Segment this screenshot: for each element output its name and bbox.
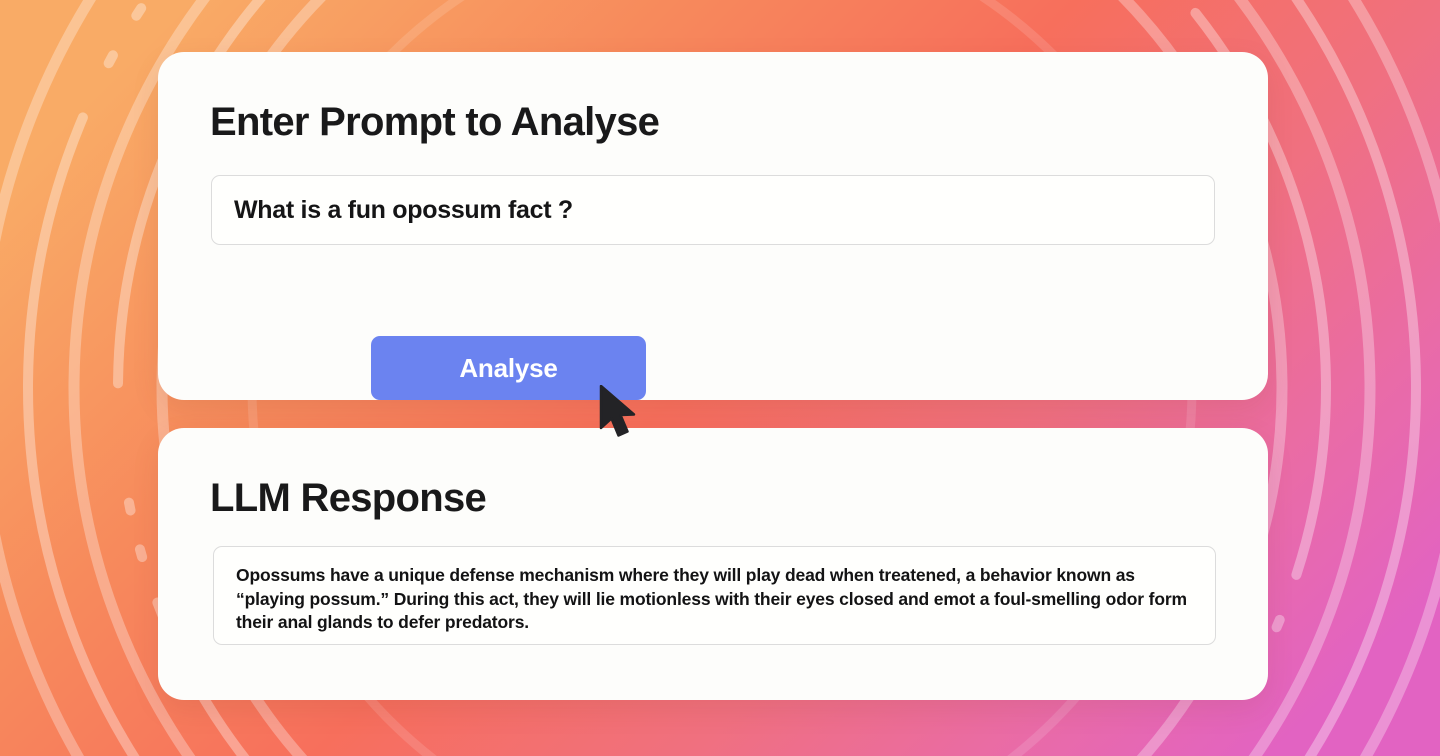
response-output-box[interactable]: Opossums have a unique defense mechanism… xyxy=(213,546,1216,645)
prompt-input-value: What is a fun opossum fact ? xyxy=(212,196,573,225)
prompt-input[interactable]: What is a fun opossum fact ? xyxy=(211,175,1215,245)
prompt-card: Enter Prompt to Analyse What is a fun op… xyxy=(158,52,1268,400)
response-output-text: Opossums have a unique defense mechanism… xyxy=(236,564,1193,635)
analyse-button[interactable]: Analyse xyxy=(371,336,646,400)
response-title: LLM Response xyxy=(210,478,486,518)
page-title: Enter Prompt to Analyse xyxy=(210,102,659,142)
page-content: Enter Prompt to Analyse What is a fun op… xyxy=(0,0,1440,756)
